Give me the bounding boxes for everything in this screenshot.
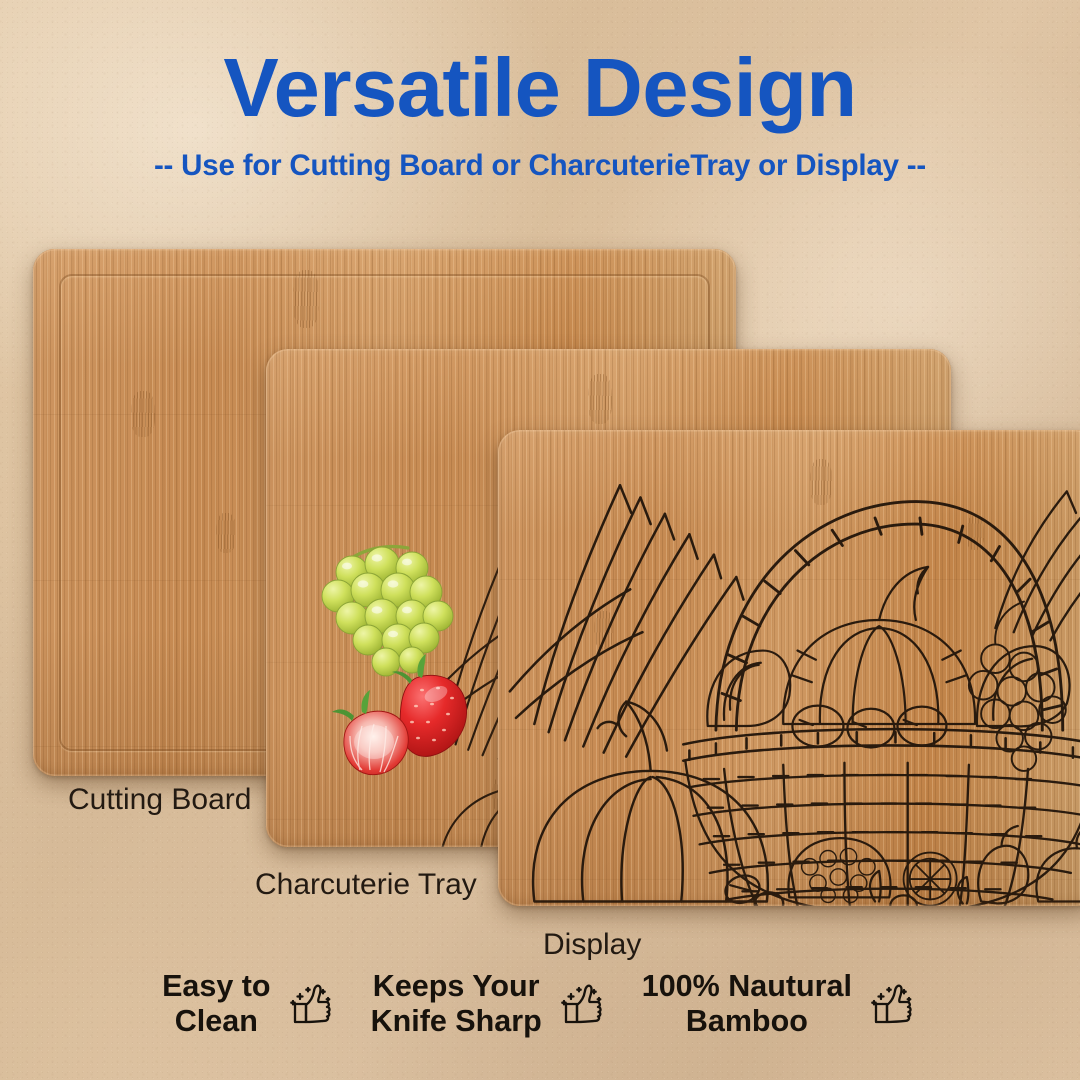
caption-display: Display — [543, 928, 641, 962]
caption-charcuterie-tray: Charcuterie Tray — [255, 868, 477, 902]
feature-item-natural-bamboo: 100% Nautural Bamboo — [642, 969, 918, 1040]
feature-label: Easy to Clean — [162, 969, 271, 1040]
thumbs-up-icon — [556, 978, 608, 1030]
feature-list: Easy to Clean Keeps Your Knife Sharp — [0, 958, 1080, 1050]
page-subtitle: -- Use for Cutting Board or CharcuterieT… — [0, 149, 1080, 183]
feature-line-1: Keeps Your — [371, 969, 542, 1004]
feature-item-keeps-knife-sharp: Keeps Your Knife Sharp — [371, 969, 608, 1040]
feature-label: 100% Nautural Bamboo — [642, 969, 852, 1040]
thumbs-up-icon — [866, 978, 918, 1030]
feature-line-1: 100% Nautural — [642, 969, 852, 1004]
page-title: Versatile Design — [0, 46, 1080, 129]
feature-item-easy-to-clean: Easy to Clean — [162, 969, 337, 1040]
feature-line-2: Bamboo — [642, 1004, 852, 1039]
feature-line-2: Clean — [162, 1004, 271, 1039]
feature-label: Keeps Your Knife Sharp — [371, 969, 542, 1040]
product-board-display[interactable] — [498, 430, 1080, 906]
harvest-basket-engraving — [498, 430, 1080, 906]
thumbs-up-icon — [285, 978, 337, 1030]
feature-line-2: Knife Sharp — [371, 1004, 542, 1039]
feature-line-1: Easy to — [162, 969, 271, 1004]
headline-block: Versatile Design -- Use for Cutting Boar… — [0, 46, 1080, 183]
caption-cutting-board: Cutting Board — [68, 783, 251, 817]
